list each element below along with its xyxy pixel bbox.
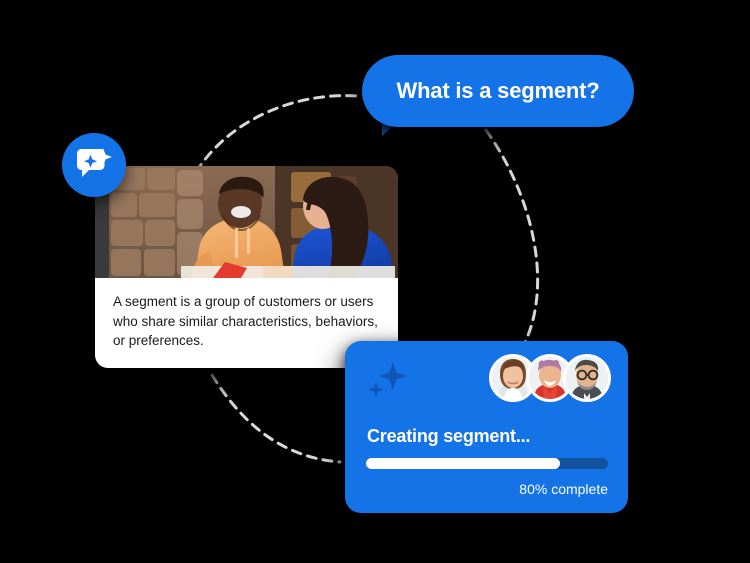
connector-card-to-bubble <box>196 96 358 172</box>
progress-title: Creating segment... <box>367 426 530 447</box>
connector-bubble-to-progress <box>486 130 538 352</box>
progress-card: Creating segment... 80% complete <box>345 341 628 513</box>
sparkle-icon <box>365 358 411 402</box>
progress-bar-track <box>366 458 608 469</box>
progress-caption: 80% complete <box>519 481 608 497</box>
avatar-group <box>489 354 611 402</box>
speech-bubble: What is a segment? <box>362 55 634 127</box>
chat-sparkle-badge[interactable] <box>62 133 126 197</box>
speech-bubble-text: What is a segment? <box>397 78 600 104</box>
chat-sparkle-icon <box>75 148 113 182</box>
info-card: A segment is a group of customers or use… <box>95 166 398 368</box>
illustration-stage: What is a segment? <box>0 0 750 563</box>
progress-bar-fill <box>366 458 560 469</box>
cafe-photo <box>95 166 398 278</box>
connector-card-to-progress <box>212 375 340 462</box>
avatar[interactable] <box>563 354 611 402</box>
sparkle-decoration <box>365 358 411 407</box>
